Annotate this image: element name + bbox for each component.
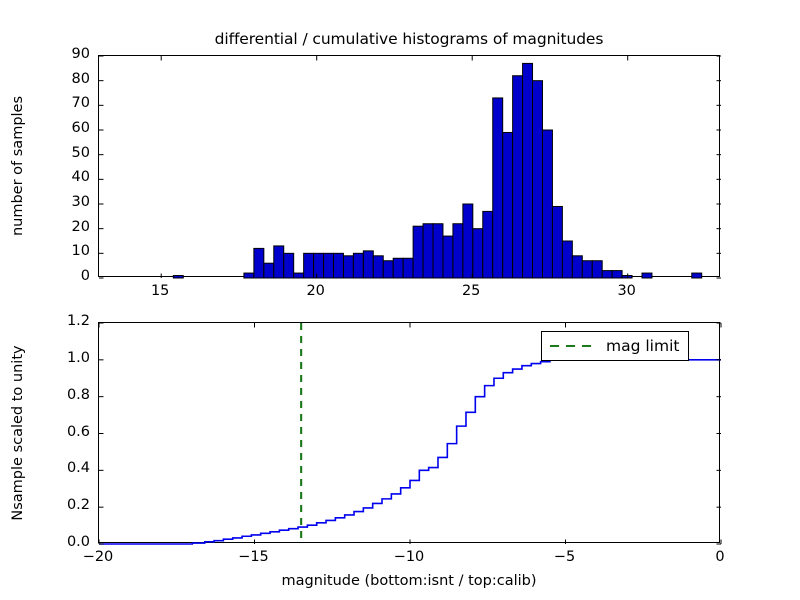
histogram-bar <box>284 253 294 278</box>
histogram-bar <box>582 261 592 278</box>
histogram-bar <box>363 251 373 278</box>
histogram-bar <box>483 211 493 278</box>
histogram-bar <box>304 253 314 278</box>
cumulative-histogram-y-axis-label: Nsample scaled to unity <box>10 345 26 520</box>
x-tick-label: −10 <box>369 549 449 565</box>
histogram-bar <box>692 273 702 278</box>
x-tick-label: 25 <box>431 283 511 299</box>
histogram-bar <box>393 258 403 278</box>
histogram-bar <box>473 229 483 278</box>
x-tick-label: 20 <box>276 283 356 299</box>
histogram-bar <box>542 130 552 278</box>
histogram-bar <box>274 246 284 278</box>
axis-ticks <box>99 56 721 278</box>
mag-limit-legend-swatch <box>549 340 595 352</box>
histogram-bar <box>403 258 413 278</box>
histogram-bar <box>503 132 513 278</box>
y-tick-label: 40 <box>32 169 90 185</box>
histogram-bar <box>493 98 503 278</box>
differential-histogram-plot <box>99 56 721 278</box>
histogram-bar <box>254 248 264 278</box>
histogram-bar <box>572 256 582 278</box>
histogram-bar <box>612 271 622 278</box>
histogram-bar <box>562 241 572 278</box>
figure-canvas: differential / cumulative histograms of … <box>0 0 800 600</box>
histogram-bar <box>314 253 324 278</box>
y-tick-label: 0.0 <box>32 534 90 550</box>
histogram-bar <box>513 76 523 278</box>
histogram-bar <box>533 81 543 278</box>
legend-label-mag-limit: mag limit <box>606 337 679 355</box>
histogram-bar <box>413 226 423 278</box>
y-tick-label: 80 <box>32 71 90 87</box>
histogram-bar <box>343 256 353 278</box>
histogram-bar <box>264 263 274 278</box>
histogram-bar <box>383 261 393 278</box>
y-tick-label: 0.2 <box>32 497 90 513</box>
histogram-bar <box>433 224 443 278</box>
differential-histogram-axes <box>98 55 720 277</box>
histogram-bar <box>294 273 304 278</box>
differential-histogram-y-axis-label: number of samples <box>10 96 26 236</box>
y-tick-label: 70 <box>32 95 90 111</box>
y-tick-label: 50 <box>32 145 90 161</box>
histogram-bars <box>173 63 701 278</box>
y-tick-label: 20 <box>32 219 90 235</box>
histogram-bar <box>333 253 343 278</box>
y-tick-label: 0 <box>32 268 90 284</box>
histogram-bar <box>173 276 183 278</box>
histogram-bar <box>423 224 433 278</box>
x-tick-label: −5 <box>525 549 605 565</box>
histogram-bar <box>463 204 473 278</box>
y-tick-label: 90 <box>32 46 90 62</box>
y-tick-label: 1.2 <box>32 313 90 329</box>
y-tick-label: 30 <box>32 194 90 210</box>
histogram-bar <box>443 236 453 278</box>
x-tick-label: 15 <box>120 283 200 299</box>
y-tick-label: 0.8 <box>32 387 90 403</box>
histogram-bar <box>373 256 383 278</box>
y-tick-label: 10 <box>32 243 90 259</box>
y-tick-label: 1.0 <box>32 350 90 366</box>
cumulative-histogram-x-axis-label: magnitude (bottom:isnt / top:calib) <box>98 573 720 589</box>
legend[interactable]: mag limit <box>541 331 689 361</box>
figure-title: differential / cumulative histograms of … <box>98 30 720 48</box>
histogram-bar <box>353 253 363 278</box>
x-tick-label: 0 <box>680 549 760 565</box>
histogram-bar <box>244 273 254 278</box>
histogram-bar <box>523 63 533 278</box>
y-tick-label: 0.6 <box>32 424 90 440</box>
cumulative-curve <box>99 360 721 544</box>
x-tick-label: 30 <box>587 283 667 299</box>
y-tick-label: 60 <box>32 120 90 136</box>
y-tick-label: 0.4 <box>32 460 90 476</box>
histogram-bar <box>622 276 632 278</box>
x-tick-label: −15 <box>214 549 294 565</box>
histogram-bar <box>592 261 602 278</box>
histogram-bar <box>324 253 334 278</box>
histogram-bar <box>453 224 463 278</box>
histogram-bar <box>602 271 612 278</box>
x-tick-label: −20 <box>58 549 138 565</box>
histogram-bar <box>642 273 652 278</box>
histogram-bar <box>552 206 562 278</box>
